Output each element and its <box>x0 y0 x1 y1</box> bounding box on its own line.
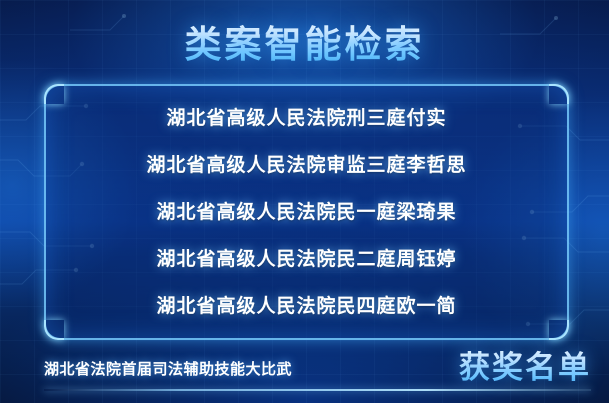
list-item: 湖北省高级人民法院民一庭梁琦果 <box>156 189 456 236</box>
footer-divider <box>44 389 591 391</box>
poster-footer: 湖北省法院首届司法辅助技能大比武 获奖名单 <box>0 349 609 395</box>
winners-panel: 湖北省高级人民法院刑三庭付实 湖北省高级人民法院审监三庭李哲思 湖北省高级人民法… <box>44 84 569 340</box>
footer-badge-label: 获奖名单 <box>459 342 591 387</box>
poster-title-container: 类案智能检索 <box>0 14 609 68</box>
list-item: 湖北省高级人民法院民二庭周钰婷 <box>156 236 456 283</box>
page-title: 类案智能检索 <box>185 14 425 68</box>
winner-list: 湖北省高级人民法院刑三庭付实 湖北省高级人民法院审监三庭李哲思 湖北省高级人民法… <box>46 86 567 338</box>
footer-event-label: 湖北省法院首届司法辅助技能大比武 <box>44 358 292 379</box>
list-item: 湖北省高级人民法院民四庭欧一简 <box>156 283 456 330</box>
poster-root: 类案智能检索 湖北省高级人民法院刑三庭付实 湖北省高级人民法院审监三庭李哲思 湖… <box>0 0 609 403</box>
list-item: 湖北省高级人民法院刑三庭付实 <box>166 95 446 142</box>
list-item: 湖北省高级人民法院审监三庭李哲思 <box>146 142 466 189</box>
